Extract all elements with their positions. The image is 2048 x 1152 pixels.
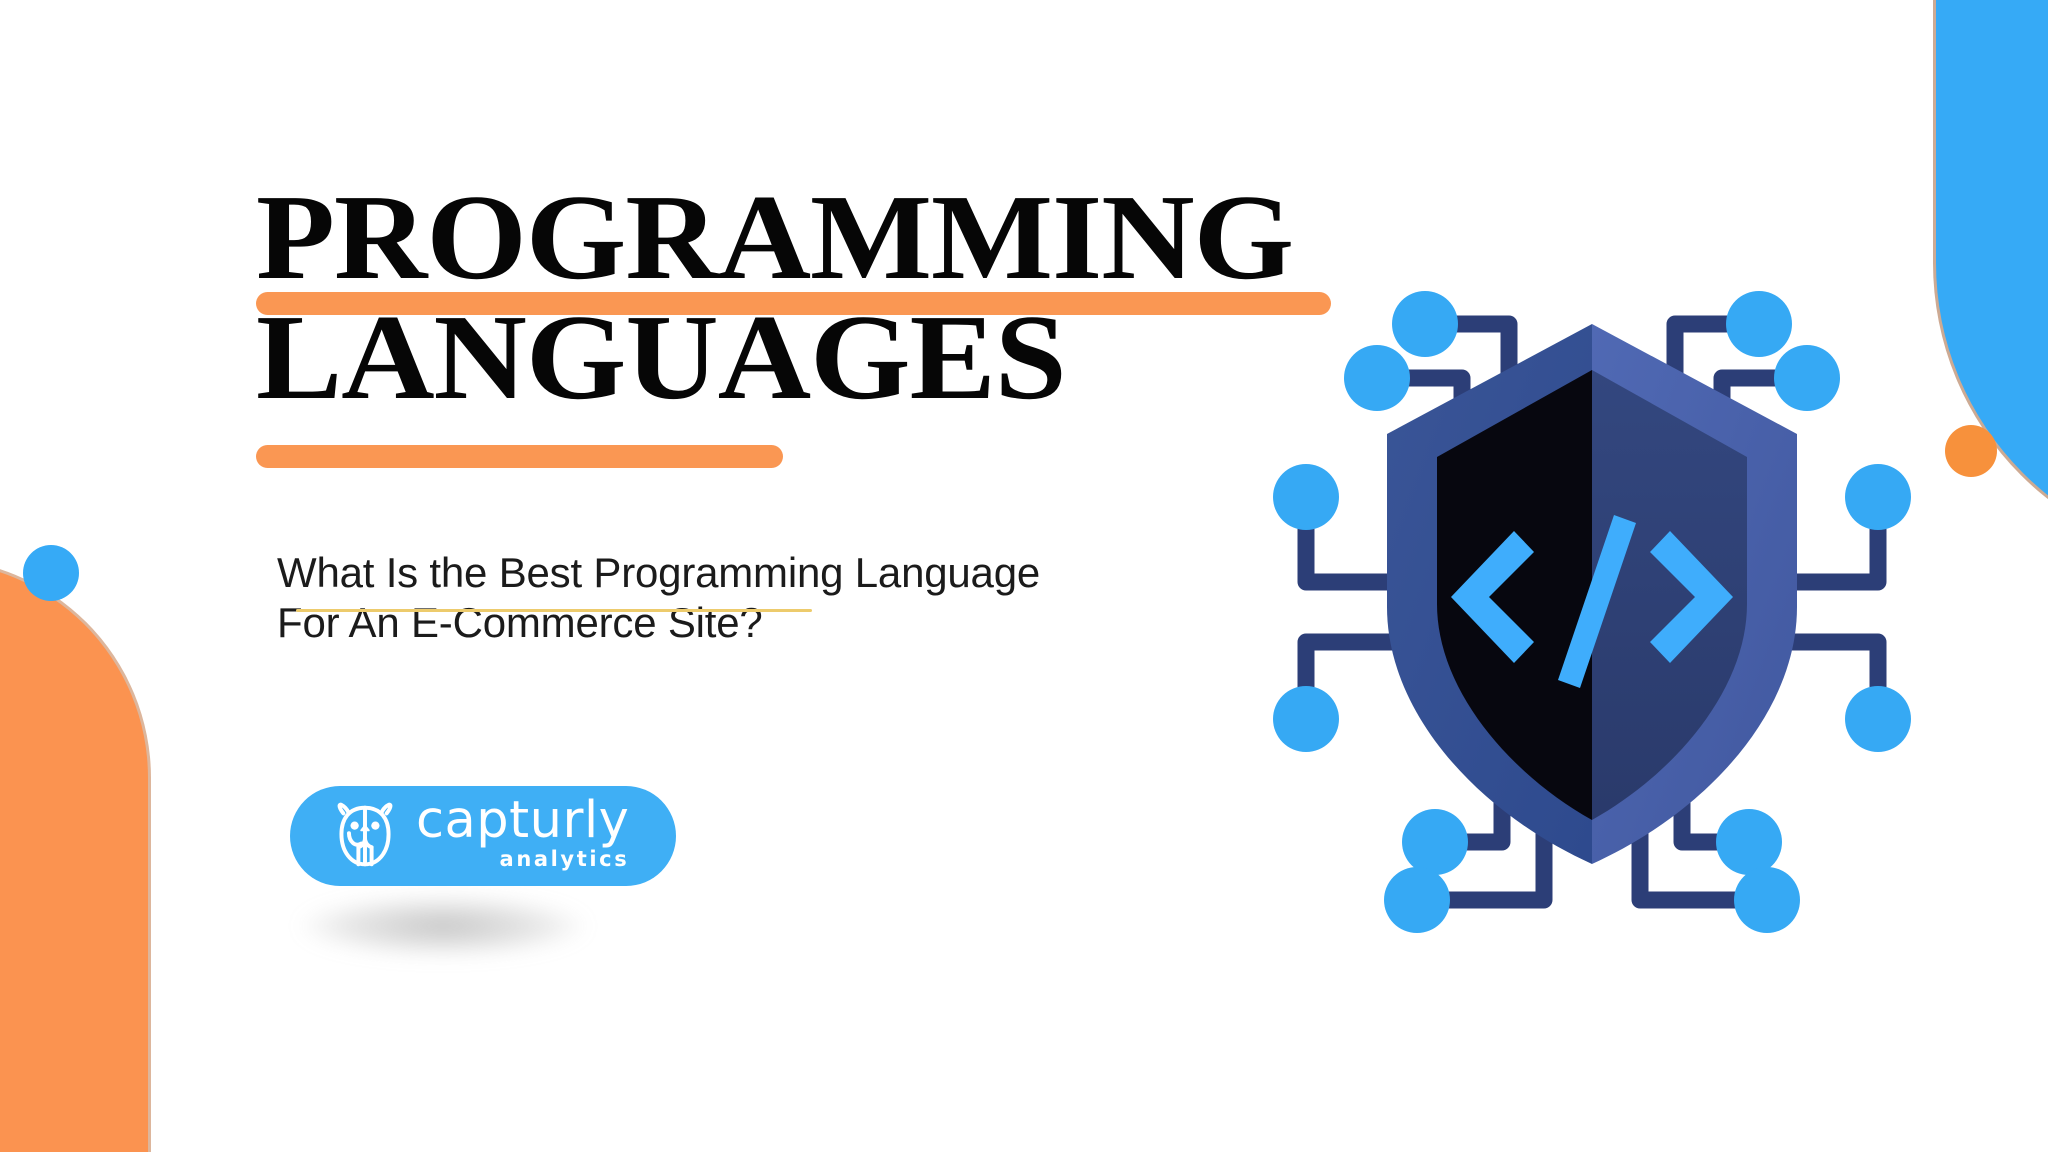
logo-drop-shadow (298, 895, 588, 957)
slide-canvas: PROGRAMMING LANGUAGES What Is the Best P… (0, 0, 2048, 1152)
subtitle-line-one: What Is the Best Programming Language (277, 548, 1237, 598)
subtitle-line-two: For An E-Commerce Site? (277, 598, 1237, 648)
brand-tagline: analytics (416, 847, 629, 871)
decorative-orange-shape-bottom-left (0, 558, 151, 1152)
decorative-orange-dot (1945, 425, 1997, 477)
decorative-blue-shape-top-right (1933, 0, 2048, 563)
title-underline-bar-one (256, 292, 1331, 315)
subtitle: What Is the Best Programming Language Fo… (277, 548, 1237, 647)
brand-name: capturly (416, 797, 629, 846)
logo-wordmark: capturly analytics (416, 797, 629, 871)
subtitle-underline (296, 609, 812, 612)
title-underline-bar-two (256, 445, 783, 468)
decorative-blue-dot (23, 545, 79, 601)
owl-icon (332, 800, 398, 872)
capturly-logo-badge[interactable]: capturly analytics (290, 786, 676, 886)
title-line-one: PROGRAMMING (256, 178, 1443, 298)
code-shield-illustration (1262, 282, 1922, 942)
